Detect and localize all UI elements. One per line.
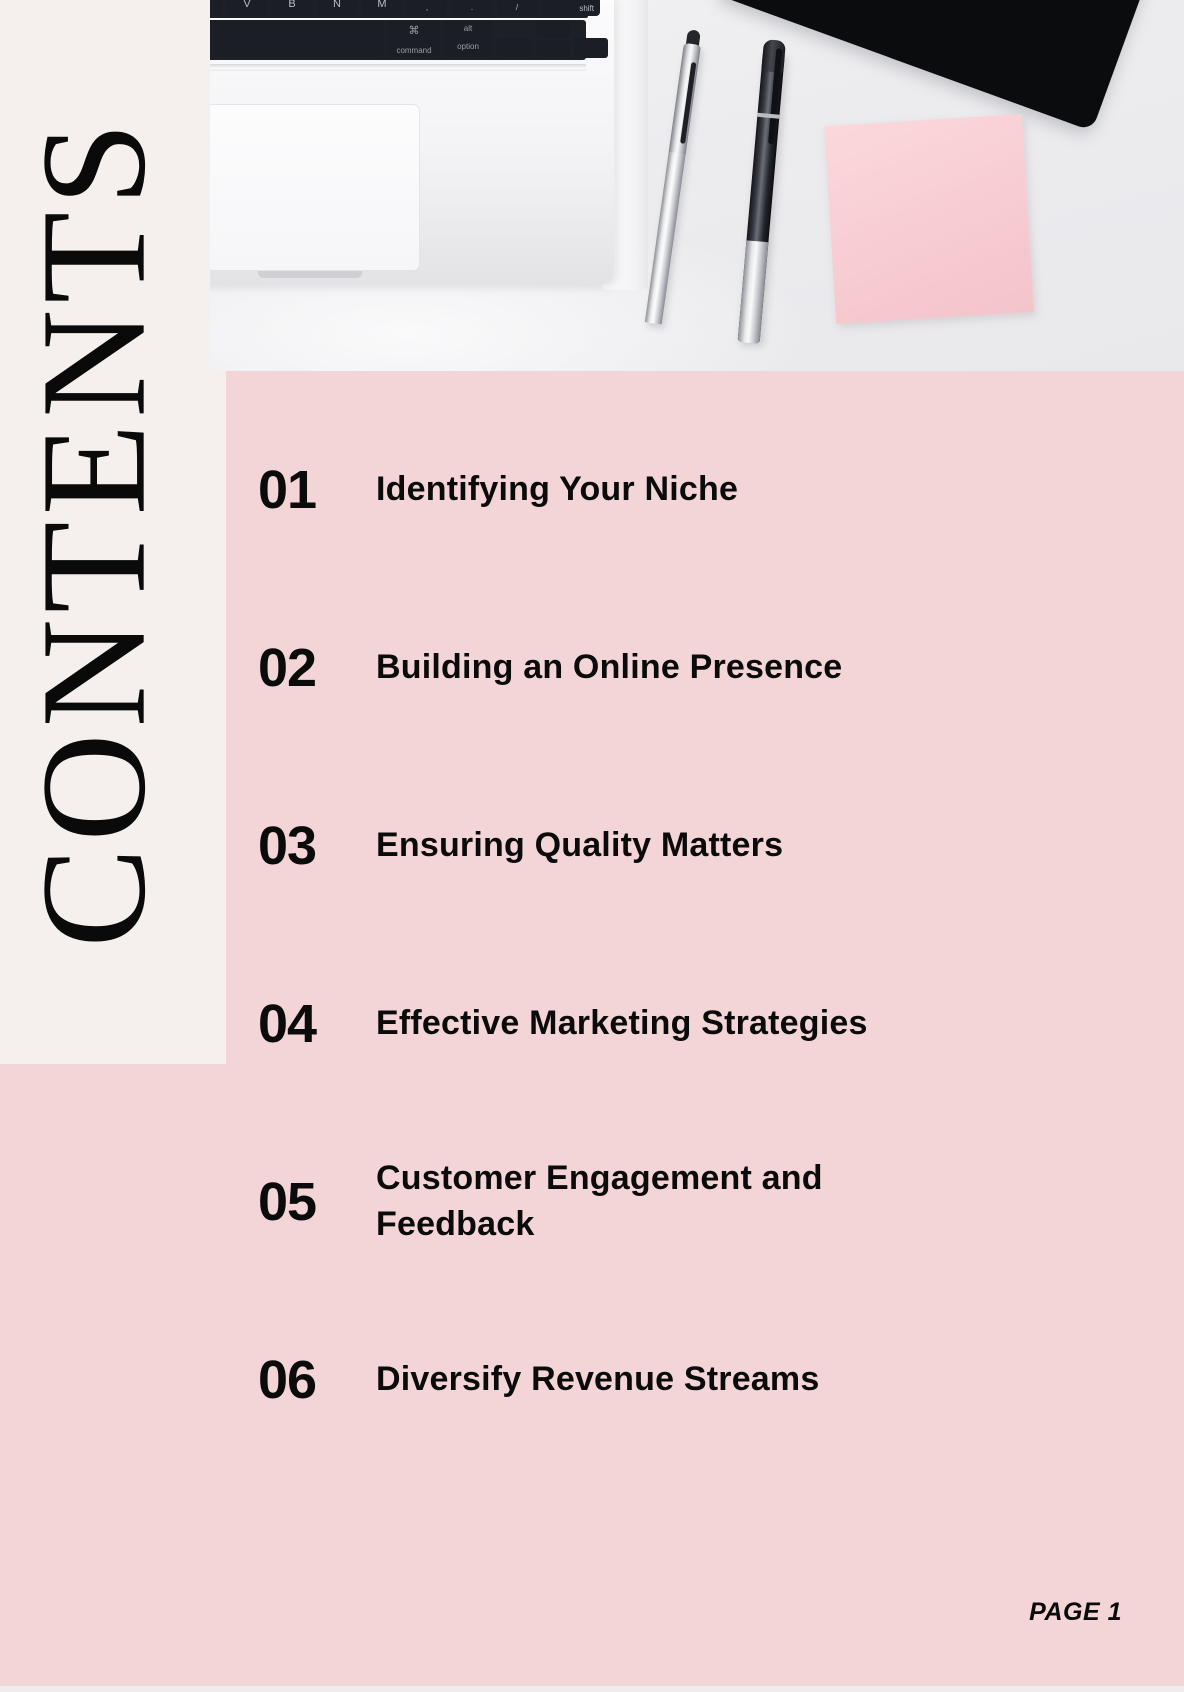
cream-side-panel-extension [210, 371, 226, 1064]
key-arrow-left [496, 38, 532, 58]
key-m: M [362, 0, 402, 16]
list-item[interactable]: 03 Ensuring Quality Matters [258, 786, 1018, 906]
contents-page: C V B N M <, >. ?/ shift ⌘command altopt… [0, 0, 1184, 1692]
key-b: B [272, 0, 312, 16]
key-period: >. [452, 0, 492, 16]
laptop-body: C V B N M <, >. ?/ shift ⌘command altopt… [210, 0, 614, 284]
key-v: V [227, 0, 267, 16]
contents-list: 01 Identifying Your Niche 02 Building an… [258, 430, 1018, 1498]
item-number: 04 [258, 997, 376, 1051]
header-photo: C V B N M <, >. ?/ shift ⌘command altopt… [210, 0, 1184, 371]
key-command: ⌘command [388, 20, 440, 58]
item-label: Effective Marketing Strategies [376, 1001, 1018, 1047]
key-comma: <, [407, 0, 447, 16]
key-shift: shift [542, 0, 600, 16]
laptop-lip [210, 64, 586, 71]
item-label: Identifying Your Niche [376, 467, 1018, 513]
key-c: C [210, 0, 222, 16]
item-number: 02 [258, 641, 376, 695]
key-arrow-up [536, 20, 570, 38]
key-spacebar [210, 20, 384, 58]
list-item[interactable]: 04 Effective Marketing Strategies [258, 964, 1018, 1084]
key-arrow-right [574, 38, 608, 58]
item-label: Diversify Revenue Streams [376, 1357, 1018, 1403]
item-label: Building an Online Presence [376, 645, 1018, 691]
item-number: 06 [258, 1353, 376, 1407]
item-label: Ensuring Quality Matters [376, 823, 1018, 869]
key-n: N [317, 0, 357, 16]
key-arrow-down [536, 40, 570, 58]
list-item[interactable]: 01 Identifying Your Niche [258, 430, 1018, 550]
laptop-front-notch [258, 271, 362, 278]
laptop-trackpad [210, 104, 420, 271]
list-item[interactable]: 02 Building an Online Presence [258, 608, 1018, 728]
item-number: 01 [258, 463, 376, 517]
key-option: altoption [444, 20, 492, 58]
item-number: 03 [258, 819, 376, 873]
page-number-label: PAGE 1 [1029, 1598, 1122, 1627]
key-slash: ?/ [497, 0, 537, 16]
list-item[interactable]: 06 Diversify Revenue Streams [258, 1320, 1018, 1440]
item-number: 05 [258, 1175, 376, 1229]
list-item[interactable]: 05 Customer Engagement and Feedback [258, 1142, 1018, 1262]
pink-sticky-note [824, 114, 1034, 324]
cream-side-panel [0, 0, 210, 1064]
item-label: Customer Engagement and Feedback [376, 1156, 916, 1248]
bottom-edge-strip [0, 1686, 1184, 1692]
black-pen-ring [757, 113, 779, 119]
